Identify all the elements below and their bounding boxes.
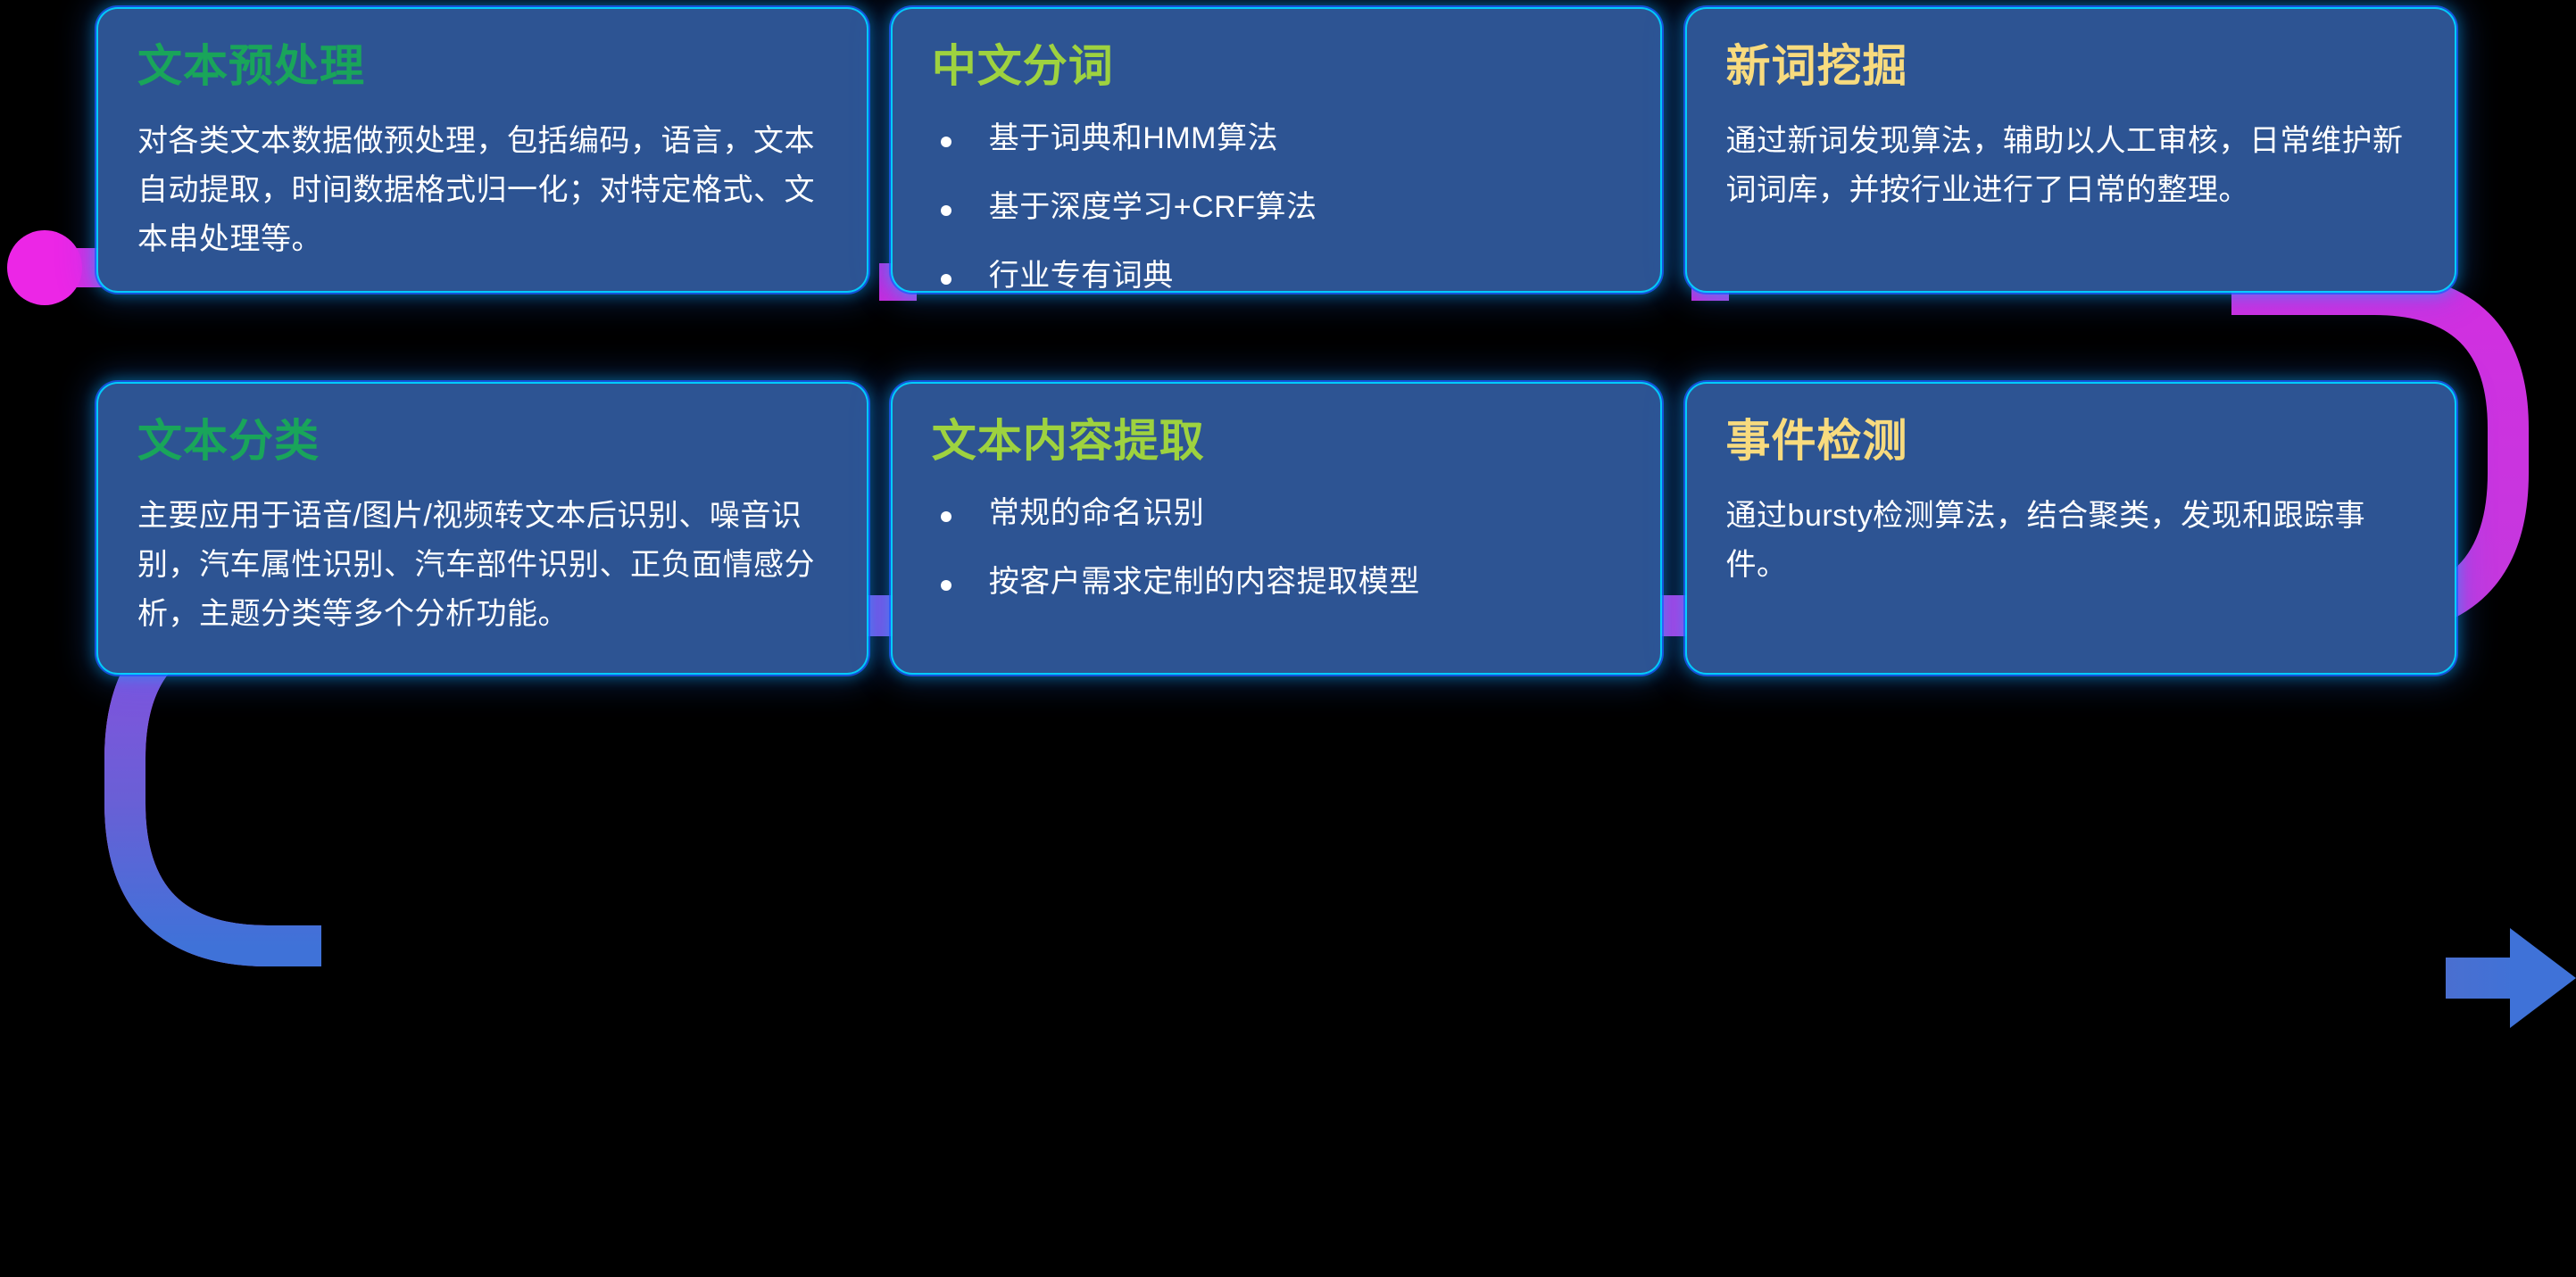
list-item: 行业专有词典 xyxy=(932,254,1622,298)
card-gap xyxy=(867,9,893,303)
card-paragraph: 主要应用于语音/图片/视频转文本后识别、噪音识别，汽车属性识别、汽车部件识别、正… xyxy=(137,492,827,639)
card-chinese-word-segmentation[interactable]: 中文分词 基于词典和HMM算法 基于深度学习+CRF算法 行业专有词典 xyxy=(893,9,1661,291)
diagram-canvas: 文本预处理 对各类文本数据做预处理，包括编码，语言，文本自动提取，时间数据格式归… xyxy=(0,0,2576,1277)
row-top: 文本预处理 对各类文本数据做预处理，包括编码，语言，文本自动提取，时间数据格式归… xyxy=(98,9,2455,303)
card-title: 文本内容提取 xyxy=(932,418,1622,465)
card-text-preprocessing[interactable]: 文本预处理 对各类文本数据做预处理，包括编码，语言，文本自动提取，时间数据格式归… xyxy=(98,9,867,291)
card-title: 新词挖掘 xyxy=(1726,43,2416,90)
card-bullet-list: 基于词典和HMM算法 基于深度学习+CRF算法 行业专有词典 xyxy=(932,117,1622,299)
card-new-word-discovery[interactable]: 新词挖掘 通过新词发现算法，辅助以人工审核，日常维护新词词库，并按行业进行了日常… xyxy=(1687,9,2456,291)
card-text-content-extraction[interactable]: 文本内容提取 常规的命名识别 按客户需求定制的内容提取模型 xyxy=(893,384,1661,673)
list-item: 基于深度学习+CRF算法 xyxy=(932,186,1622,229)
card-text-classification[interactable]: 文本分类 主要应用于语音/图片/视频转文本后识别、噪音识别，汽车属性识别、汽车部… xyxy=(98,384,867,673)
row-bottom: 文本分类 主要应用于语音/图片/视频转文本后识别、噪音识别，汽车属性识别、汽车部… xyxy=(98,384,2455,1062)
card-title: 文本预处理 xyxy=(137,43,827,90)
card-bullet-list: 常规的命名识别 按客户需求定制的内容提取模型 xyxy=(932,492,1622,605)
card-title: 事件检测 xyxy=(1726,418,2416,465)
list-item: 基于词典和HMM算法 xyxy=(932,117,1622,161)
list-item: 常规的命名识别 xyxy=(932,492,1622,535)
card-paragraph: 对各类文本数据做预处理，包括编码，语言，文本自动提取，时间数据格式归一化；对特定… xyxy=(137,117,827,264)
card-paragraph: 通过新词发现算法，辅助以人工审核，日常维护新词词库，并按行业进行了日常的整理。 xyxy=(1726,117,2416,215)
card-gap xyxy=(1660,384,1686,1062)
list-item: 按客户需求定制的内容提取模型 xyxy=(932,560,1622,604)
arrow-right-icon xyxy=(2510,928,2576,1028)
card-title: 中文分词 xyxy=(932,43,1622,90)
card-event-detection[interactable]: 事件检测 通过bursty检测算法，结合聚类，发现和跟踪事件。 xyxy=(1687,384,2456,673)
start-dot-icon xyxy=(7,230,82,305)
card-paragraph: 通过bursty检测算法，结合聚类，发现和跟踪事件。 xyxy=(1726,492,2416,590)
card-gap xyxy=(1660,9,1686,303)
card-title: 文本分类 xyxy=(137,418,827,465)
card-gap xyxy=(867,384,893,1062)
